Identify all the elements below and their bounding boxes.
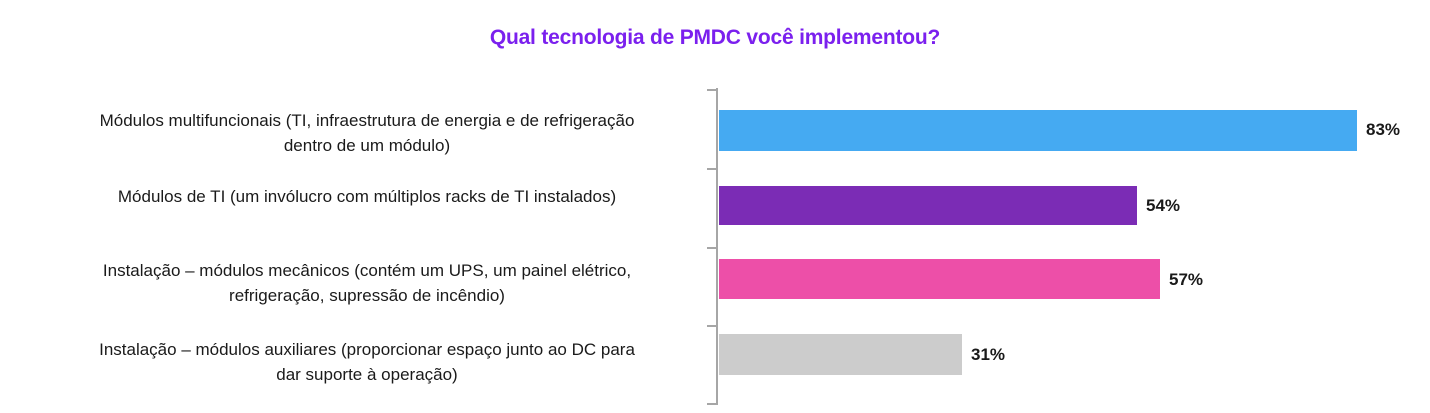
category-label-0: Módulos multifuncionais (TI, infraestrut… (22, 108, 712, 158)
category-label-1-line1: Módulos de TI (um invólucro com múltiplo… (22, 184, 712, 209)
bar-chart: Qual tecnologia de PMDC você implementou… (0, 0, 1430, 413)
axis-tick-3 (707, 325, 717, 327)
category-label-0-line1: Módulos multifuncionais (TI, infraestrut… (22, 108, 712, 133)
category-label-3-line2: dar suporte à operação) (22, 362, 712, 387)
category-label-2-line2: refrigeração, supressão de incêndio) (22, 283, 712, 308)
axis-tick-1 (707, 168, 717, 170)
category-label-0-line2: dentro de um módulo) (22, 133, 712, 158)
category-label-3: Instalação – módulos auxiliares (proporc… (22, 337, 712, 387)
bar-3 (719, 334, 962, 375)
bar-0 (719, 110, 1357, 151)
axis-tick-4 (707, 403, 717, 405)
bar-2 (719, 259, 1160, 299)
bar-value-2: 57% (1169, 270, 1203, 290)
bar-value-3: 31% (971, 345, 1005, 365)
category-label-2-line1: Instalação – módulos mecânicos (contém u… (22, 258, 712, 283)
category-label-1: Módulos de TI (um invólucro com múltiplo… (22, 184, 712, 209)
bar-1 (719, 186, 1137, 225)
axis-tick-2 (707, 247, 717, 249)
bar-value-1: 54% (1146, 196, 1180, 216)
category-label-2: Instalação – módulos mecânicos (contém u… (22, 258, 712, 308)
category-label-3-line1: Instalação – módulos auxiliares (proporc… (22, 337, 712, 362)
axis-tick-0 (707, 89, 717, 91)
bar-value-0: 83% (1366, 120, 1400, 140)
plot-area: Módulos multifuncionais (TI, infraestrut… (0, 0, 1430, 413)
